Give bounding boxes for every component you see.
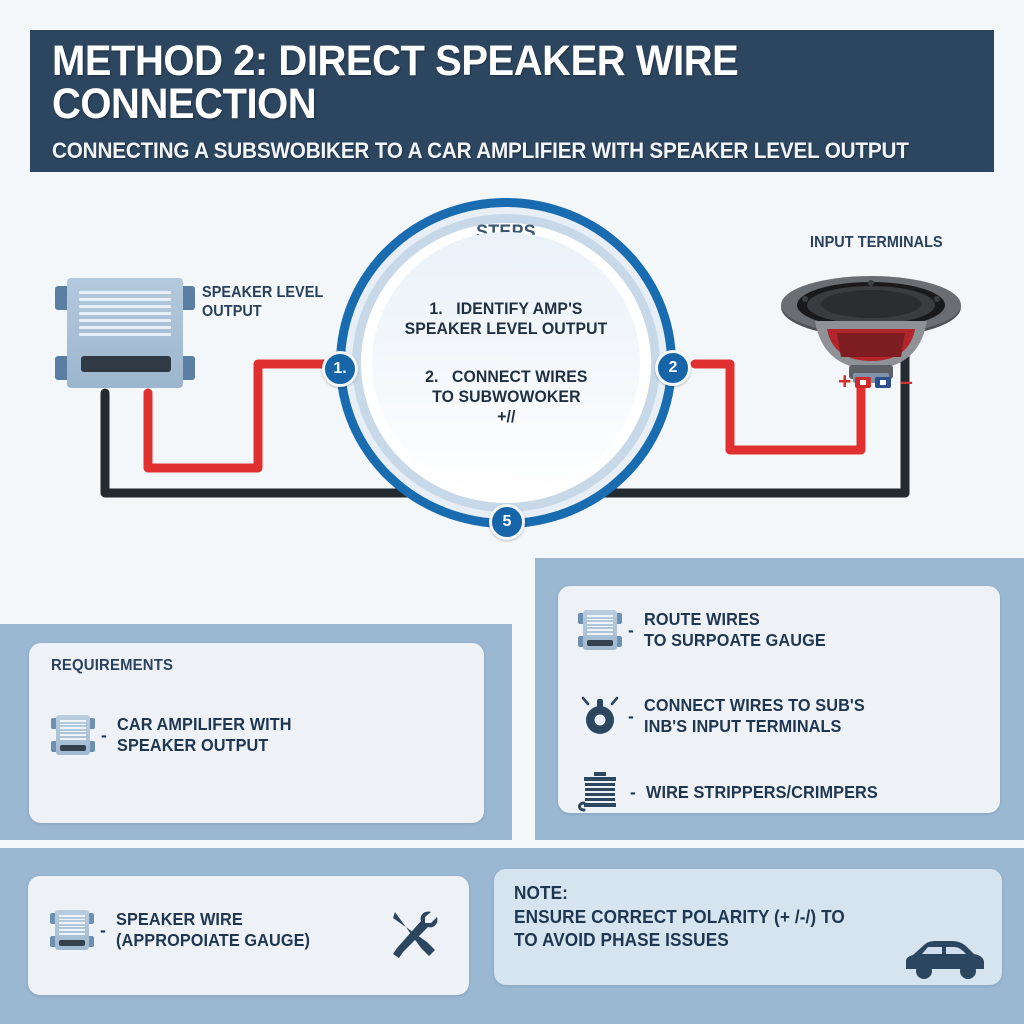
tools-item-0: - ROUTE WIRES TO SURPOATE GAUGE — [578, 608, 839, 652]
wire-item-0-text: SPEAKER WIRE (APPROPOIATE GAUGE) — [116, 909, 310, 951]
bullet-dash: - — [628, 706, 634, 727]
polarity-plus-label: + — [838, 368, 851, 395]
requirements-item-0: - CAR AMPILIFER WITH SPEAKER OUTPUT — [51, 713, 305, 757]
wire-spool-icon — [576, 770, 624, 814]
bullet-dash: - — [101, 725, 107, 746]
tools-item-1: - CONNECT WIRES TO SUB'S INB'S INPUT TER… — [578, 694, 881, 738]
step-2-text: CONNECT WIRES TO SUBWOWOKER +// — [432, 367, 587, 426]
bullet-dash: - — [630, 782, 636, 803]
page-title: METHOD 2: DIRECT SPEAKER WIRE CONNECTION — [52, 40, 928, 126]
subwoofer-graphic — [775, 273, 967, 398]
speaker-wire-card: - SPEAKER WIRE (APPROPOIATE GAUGE) — [28, 876, 469, 995]
infographic-page: METHOD 2: DIRECT SPEAKER WIRE CONNECTION… — [0, 0, 1024, 1024]
tools-item-0-text: ROUTE WIRES TO SURPOATE GAUGE — [644, 609, 826, 651]
step-item-2: 2. CONNECT WIRES TO SUBWOWOKER +// — [419, 367, 594, 427]
amplifier-icon — [578, 608, 622, 652]
page-subtitle: CONNECTING A SUBSWOBIKER TO A CAR AMPLIF… — [52, 140, 919, 163]
step-badge-5[interactable]: 5 — [489, 504, 525, 540]
wire-item-0: - SPEAKER WIRE (APPROPOIATE GAUGE) — [50, 908, 325, 952]
amplifier-icon — [50, 908, 94, 952]
requirements-item-0-text: CAR AMPILIFER WITH SPEAKER OUTPUT — [117, 714, 292, 756]
step-badge-2[interactable]: 2 — [655, 350, 691, 386]
terminal-ring-icon — [578, 694, 622, 738]
bullet-dash: - — [100, 920, 106, 941]
step-2-number: 2. — [425, 367, 438, 386]
bullet-dash: - — [628, 620, 634, 641]
amplifier-icon — [51, 713, 95, 757]
input-terminals-label: INPUT TERMINALS — [810, 234, 996, 253]
polarity-minus-label: – — [900, 368, 913, 395]
car-icon — [902, 935, 988, 981]
note-card: NOTE: ENSURE CORRECT POLARITY (+ /-/) TO… — [494, 869, 1002, 985]
tools-card: - ROUTE WIRES TO SURPOATE GAUGE - CONNEC… — [558, 586, 1000, 813]
amplifier-graphic — [55, 278, 195, 388]
step-badge-1[interactable]: 1. — [322, 351, 358, 387]
tools-item-2: - WIRE STRIPPERS/CRIMPERS — [576, 770, 895, 814]
diagram-stage: SPEAKER LEVEL OUTPUT INPUT TERMINALS — [0, 178, 1024, 548]
tools-item-1-text: CONNECT WIRES TO SUB'S INB'S INPUT TERMI… — [644, 695, 865, 737]
tools-cross-icon — [383, 904, 443, 964]
requirements-title: REQUIREMENTS — [51, 657, 173, 675]
header-banner: METHOD 2: DIRECT SPEAKER WIRE CONNECTION… — [30, 30, 994, 172]
tools-item-2-text: WIRE STRIPPERS/CRIMPERS — [646, 782, 878, 803]
step-1-number: 1. — [429, 299, 442, 318]
step-item-1: 1. IDENTIFY AMP'S SPEAKER LEVEL OUTPUT — [397, 299, 615, 339]
speaker-level-output-label: SPEAKER LEVEL OUTPUT — [202, 284, 351, 322]
note-text: NOTE: ENSURE CORRECT POLARITY (+ /-/) TO… — [514, 881, 914, 952]
requirements-card: REQUIREMENTS - CAR AMPILIFER WITH SPEAKE… — [29, 643, 484, 823]
steps-circle: STEPS 1. IDENTIFY AMP'S SPEAKER LEVEL OU… — [336, 198, 676, 528]
